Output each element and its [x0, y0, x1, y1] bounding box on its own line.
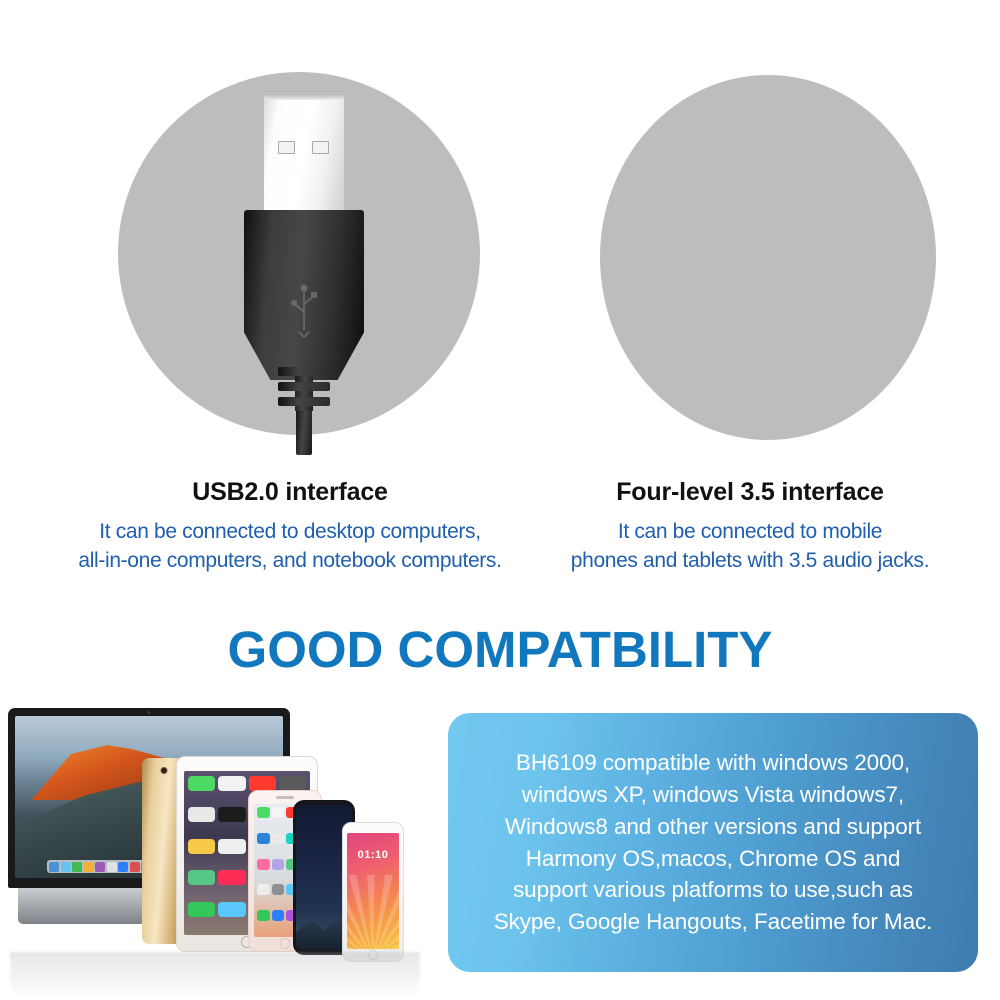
info-line: support various platforms to use,such as [494, 874, 933, 906]
usb-caption-title: USB2.0 interface [60, 478, 520, 507]
device-reflection [10, 952, 420, 1000]
compatibility-info-box: BH6109 compatible with windows 2000, win… [448, 713, 978, 972]
app-icon [188, 807, 215, 822]
app-icon [218, 807, 245, 822]
ipad-camera-icon [161, 767, 168, 774]
audio-jack-caption: Four-level 3.5 interface It can be conne… [520, 478, 980, 575]
app-icon [218, 776, 245, 791]
audio-jack-caption-line-2: phones and tablets with 3.5 audio jacks. [520, 547, 980, 576]
lock-screen-clock: 01:10 [358, 849, 389, 861]
app-icon [257, 884, 270, 895]
app-icon [249, 776, 276, 791]
info-line: Skype, Google Hangouts, Facetime for Mac… [494, 906, 933, 938]
imac-camera-icon [148, 711, 151, 714]
page-headline: GOOD COMPATBILITY [0, 620, 1000, 679]
device-phone-white: 01:10 [342, 822, 404, 962]
app-icon [272, 884, 285, 895]
dock-icon [72, 862, 82, 872]
usb-caption-line-2: all-in-one computers, and notebook compu… [60, 547, 520, 576]
app-icon [257, 807, 270, 818]
iphone-earpiece-icon [276, 796, 294, 799]
usb-caption-body: It can be connected to desktop computers… [60, 518, 520, 575]
iphone-home-button[interactable] [280, 938, 291, 949]
app-icon [218, 839, 245, 854]
app-icon [257, 859, 270, 870]
dock-icon [130, 862, 140, 872]
usb-contact-slot [278, 141, 295, 154]
app-icon [257, 833, 270, 844]
audio-jack-caption-title: Four-level 3.5 interface [520, 478, 980, 507]
usb-caption: USB2.0 interface It can be connected to … [60, 478, 520, 575]
usb-metal-shell [264, 95, 344, 215]
usb-relief-fin [278, 382, 330, 391]
compatibility-info-text: BH6109 compatible with windows 2000, win… [494, 747, 933, 939]
usb-a-connector-icon [244, 95, 364, 455]
info-line: windows XP, windows Vista windows7, [494, 779, 933, 811]
info-line: Harmony OS,macos, Chrome OS and [494, 843, 933, 875]
infographic-page: USB2.0 interface It can be connected to … [0, 0, 1000, 1000]
app-icon [272, 807, 285, 818]
app-icon [188, 839, 215, 854]
phone-white-lock-screen: 01:10 [347, 833, 399, 949]
usb-caption-line-1: It can be connected to desktop computers… [60, 518, 520, 547]
usb-trident-logo-icon [289, 282, 319, 340]
app-icon [188, 776, 215, 791]
info-line: Windows8 and other versions and support [494, 811, 933, 843]
app-icon [257, 910, 270, 921]
compatible-device-lineup: 01:10 [0, 700, 440, 1000]
audio-jack-caption-body: It can be connected to mobile phones and… [520, 518, 980, 575]
audio-jack-circle-backdrop [600, 75, 936, 440]
app-icon [279, 776, 306, 791]
app-icon [272, 910, 285, 921]
app-icon [272, 833, 285, 844]
app-icon [272, 859, 285, 870]
usb-overmold-body [244, 210, 364, 380]
usb-strain-relief [278, 367, 330, 415]
wallpaper-fan-rays [347, 875, 399, 949]
usb-contact-slot [312, 141, 329, 154]
dock-icon [49, 862, 59, 872]
usb-relief-fin [278, 397, 330, 406]
dock-icon [61, 862, 71, 872]
app-icon [188, 870, 215, 885]
info-line: BH6109 compatible with windows 2000, [494, 747, 933, 779]
dock-icon [95, 862, 105, 872]
dock-icon [84, 862, 94, 872]
dock-icon [107, 862, 117, 872]
usb-cable [296, 411, 312, 455]
app-icon [188, 902, 215, 917]
dock-icon [118, 862, 128, 872]
app-icon [218, 870, 245, 885]
imac-stand [18, 888, 146, 924]
app-icon [218, 902, 245, 917]
usb-relief-fin [278, 367, 330, 376]
audio-jack-caption-line-1: It can be connected to mobile [520, 518, 980, 547]
